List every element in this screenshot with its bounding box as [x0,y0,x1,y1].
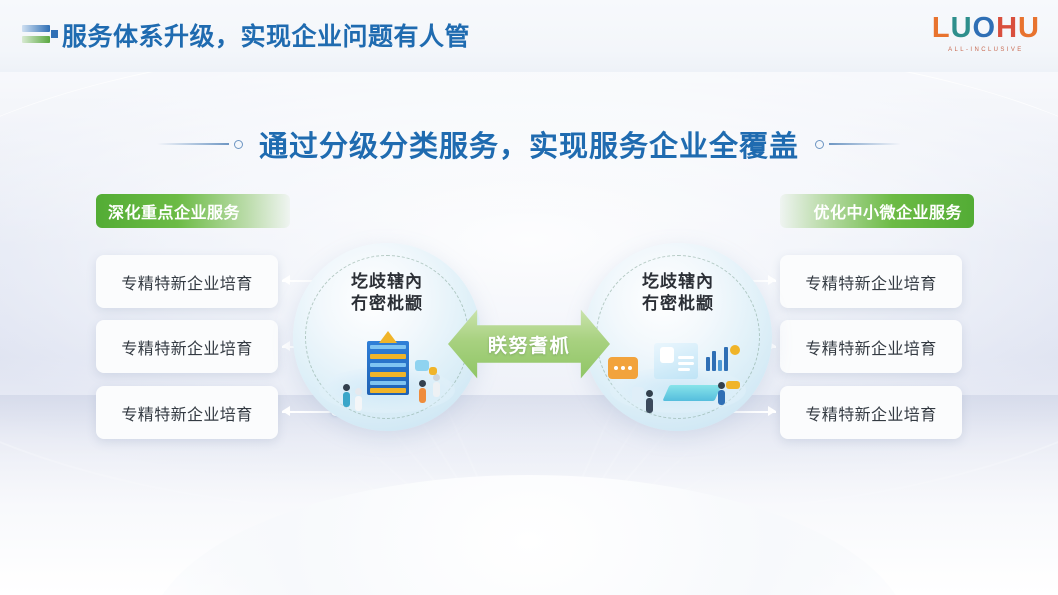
logo-letter: O [973,14,997,43]
logo-letter: U [951,14,973,43]
logo-letter: L [932,14,951,43]
data-dashboard-illustration [602,323,754,415]
header-title: 服务体系升级，实现企业问题有人管 [62,17,470,53]
center-arrow-label: 眹努耆枛 [448,305,610,383]
logo-tagline: ALL-INCLUSIVE [932,47,1040,53]
luohu-logo: LUOHU ALL-INCLUSIVE [932,14,1040,53]
list-item[interactable]: 专精特新企业培育 [780,386,962,439]
list-item[interactable]: 专精特新企业培育 [780,320,962,373]
right-circle-text: 圪歧辖內 冇密枇颛 [584,271,772,315]
slide-header: 服务体系升级，实现企业问题有人管 LUOHU ALL-INCLUSIVE [0,0,1058,72]
right-circle: 圪歧辖內 冇密枇颛 [584,243,772,431]
logo-letter: U [1018,14,1040,43]
list-item[interactable]: 专精特新企业培育 [96,386,278,439]
right-circle-line2: 冇密枇颛 [584,293,772,315]
left-circle-line1: 圪歧辖內 [293,271,481,293]
logo-wordmark: LUOHU [932,14,1040,43]
section-title-row: 通过分级分类服务，实现服务企业全覆盖 [0,122,1058,166]
right-section-tag: 优化中小微企业服务 [780,194,974,228]
line-dot-icon-right [815,140,901,149]
list-item[interactable]: 专精特新企业培育 [96,255,278,308]
accent-bars-icon [22,24,56,46]
list-item[interactable]: 专精特新企业培育 [780,255,962,308]
list-item[interactable]: 专精特新企业培育 [96,320,278,373]
office-building-illustration [311,323,463,415]
line-dot-icon-left [157,140,243,149]
left-section-tag: 深化重点企业服务 [96,194,290,228]
logo-letter: H [996,14,1018,43]
slide: 服务体系升级，实现企业问题有人管 LUOHU ALL-INCLUSIVE 通过分… [0,0,1058,595]
right-circle-line1: 圪歧辖內 [584,271,772,293]
page-title: 通过分级分类服务，实现服务企业全覆盖 [259,123,799,165]
